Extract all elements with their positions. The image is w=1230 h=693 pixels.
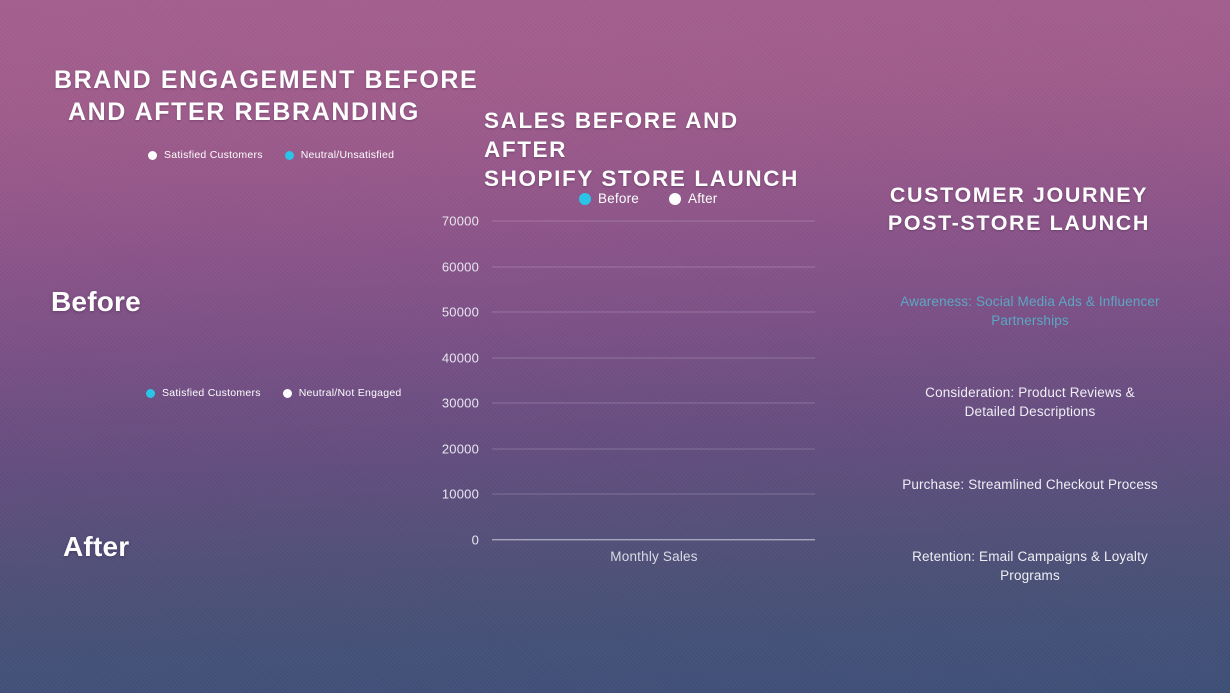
chart-gridline — [492, 357, 815, 358]
journey-step[interactable]: Purchase: Streamlined Checkout Process — [900, 475, 1160, 494]
legend-label: Satisfied Customers — [164, 149, 263, 161]
legend-item-neutral-unsatisfied[interactable]: Neutral/Unsatisfied — [285, 149, 394, 161]
legend-dot-icon — [669, 193, 681, 205]
brand-engagement-title: BRAND ENGAGEMENT BEFORE AND AFTER REBRAN… — [54, 64, 484, 128]
brand-engagement-title-line2: AND AFTER REBRANDING — [54, 96, 484, 128]
legend-item-before[interactable]: Before — [579, 191, 639, 206]
legend-label: Before — [598, 191, 639, 206]
legend-dot-icon — [146, 389, 155, 398]
chart-plot-area: 010000200003000040000500006000070000 — [492, 221, 815, 540]
chart-x-axis-label: Monthly Sales — [492, 549, 816, 564]
legend-item-satisfied-customers[interactable]: Satisfied Customers — [148, 149, 263, 161]
after-chart-legend: Satisfied Customers Neutral/Not Engaged — [146, 387, 402, 399]
chart-y-tick-label: 0 — [472, 533, 479, 548]
chart-gridline — [492, 494, 815, 495]
sales-bar-chart: 010000200003000040000500006000070000 — [430, 212, 822, 550]
chart-gridline — [492, 448, 815, 449]
legend-label: After — [688, 191, 718, 206]
legend-dot-icon — [285, 151, 294, 160]
chart-y-tick-label: 70000 — [442, 214, 479, 229]
legend-dot-icon — [283, 389, 292, 398]
chart-gridline — [492, 221, 815, 222]
legend-label: Satisfied Customers — [162, 387, 261, 399]
after-section-label: After — [63, 531, 129, 563]
chart-y-tick-label: 50000 — [442, 305, 479, 320]
legend-item-after[interactable]: After — [669, 191, 718, 206]
chart-y-tick-label: 20000 — [442, 441, 479, 456]
chart-y-tick-label: 40000 — [442, 350, 479, 365]
customer-journey-steps: Awareness: Social Media Ads & Influencer… — [900, 292, 1160, 638]
customer-journey-title: CUSTOMER JOURNEY POST-STORE LAUNCH — [884, 182, 1154, 237]
legend-dot-icon — [579, 193, 591, 205]
legend-label: Neutral/Unsatisfied — [301, 149, 394, 161]
legend-label: Neutral/Not Engaged — [299, 387, 402, 399]
journey-step[interactable]: Consideration: Product Reviews & Detaile… — [900, 383, 1160, 421]
brand-engagement-title-line1: BRAND ENGAGEMENT BEFORE — [54, 66, 478, 94]
before-section-label: Before — [51, 286, 141, 318]
legend-dot-icon — [148, 151, 157, 160]
legend-item-satisfied-customers[interactable]: Satisfied Customers — [146, 387, 261, 399]
sales-chart-title-line1: SALES BEFORE AND AFTER — [484, 108, 739, 162]
slide-canvas: BRAND ENGAGEMENT BEFORE AND AFTER REBRAN… — [0, 0, 1230, 693]
before-chart-legend: Satisfied Customers Neutral/Unsatisfied — [148, 149, 394, 161]
legend-item-neutral-not-engaged[interactable]: Neutral/Not Engaged — [283, 387, 402, 399]
chart-gridline — [492, 403, 815, 404]
chart-y-tick-label: 10000 — [442, 487, 479, 502]
chart-y-tick-label: 60000 — [442, 259, 479, 274]
chart-gridline — [492, 312, 815, 313]
journey-step[interactable]: Awareness: Social Media Ads & Influencer… — [900, 292, 1160, 330]
sales-chart-title-line2: SHOPIFY STORE LAUNCH — [484, 166, 799, 191]
customer-journey-title-line1: CUSTOMER JOURNEY — [890, 183, 1148, 207]
sales-chart-legend: Before After — [579, 191, 718, 206]
chart-y-tick-label: 30000 — [442, 396, 479, 411]
sales-chart-title: SALES BEFORE AND AFTER SHOPIFY STORE LAU… — [484, 107, 814, 193]
chart-gridline — [492, 266, 815, 267]
customer-journey-title-line2: POST-STORE LAUNCH — [888, 211, 1150, 235]
chart-gridline — [492, 540, 815, 541]
journey-step[interactable]: Retention: Email Campaigns & Loyalty Pro… — [900, 547, 1160, 585]
